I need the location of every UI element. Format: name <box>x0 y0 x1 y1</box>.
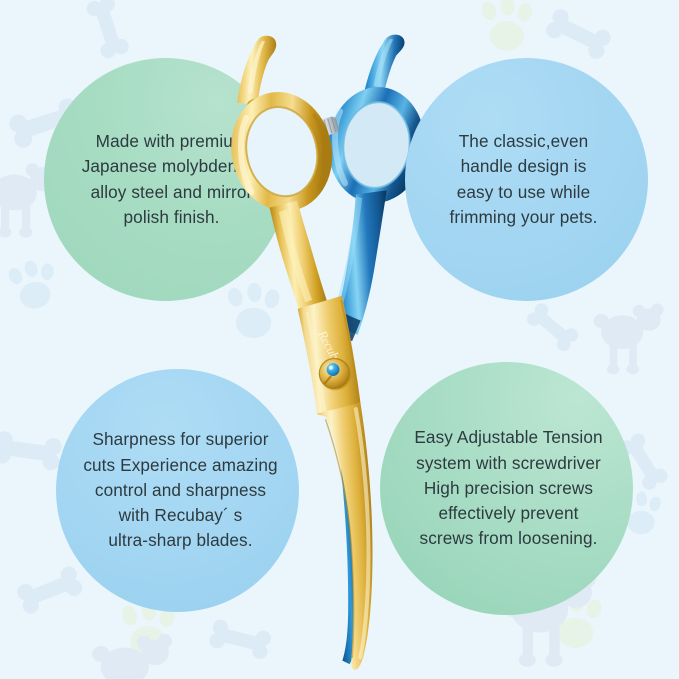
product-infographic: Made with premium Japanese molybdenum al… <box>0 0 679 679</box>
feature-bubble-handle: The classic,even handle design is easy t… <box>405 58 648 301</box>
feature-bubble-material: Made with premium Japanese molybdenum al… <box>44 58 287 301</box>
feature-text-tension: Easy Adjustable Tension system with scre… <box>404 425 612 551</box>
feature-text-handle: The classic,even handle design is easy t… <box>439 129 607 230</box>
feature-bubble-sharpness: Sharpness for superior cuts Experience a… <box>56 369 299 612</box>
feature-text-material: Made with premium Japanese molybdenum al… <box>72 129 272 230</box>
feature-text-sharpness: Sharpness for superior cuts Experience a… <box>73 427 287 553</box>
feature-bubble-tension: Easy Adjustable Tension system with scre… <box>380 362 633 615</box>
